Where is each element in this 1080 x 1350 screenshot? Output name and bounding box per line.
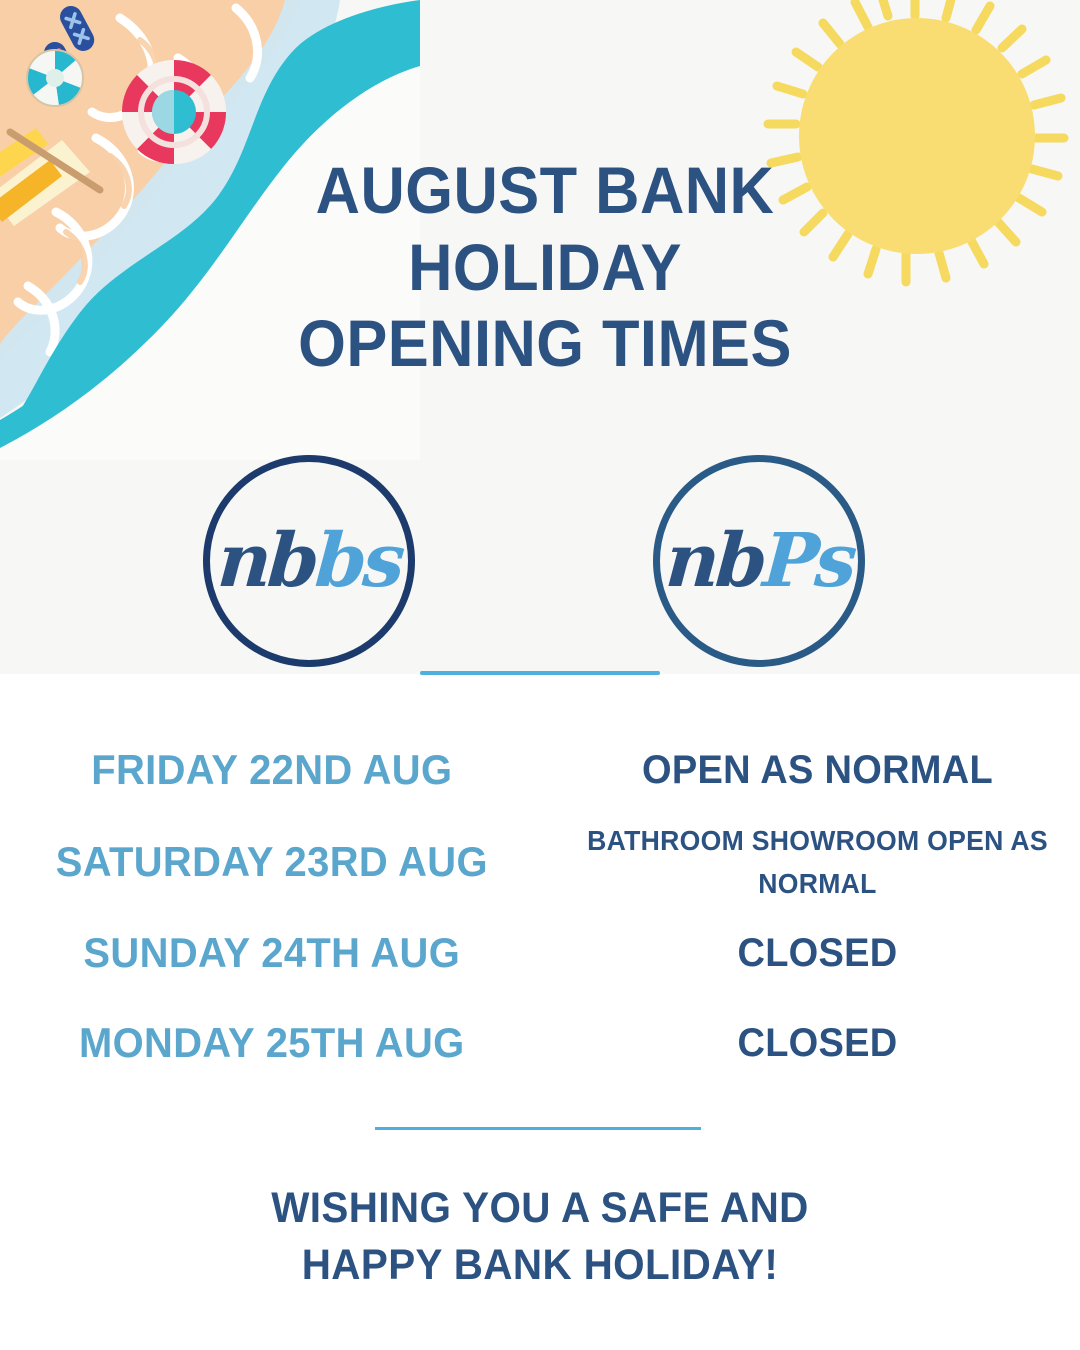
poster-canvas: AUGUST BANK HOLIDAY OPENING TIMES nbbs n… — [0, 0, 1080, 1350]
table-row: MONDAY 25TH AUG CLOSED — [0, 998, 1080, 1088]
schedule-status-2: CLOSED — [568, 931, 1067, 976]
nbbs-logo: nbbs — [203, 455, 415, 667]
life-ring-icon — [122, 60, 226, 164]
title-line-1: AUGUST BANK — [261, 152, 828, 229]
title-line-3: OPENING TIMES — [261, 305, 828, 382]
beach-ball-icon — [27, 50, 83, 106]
title-line-2: HOLIDAY — [261, 229, 828, 306]
divider-above-closing — [375, 1127, 701, 1130]
nbbs-logo-dark-part: nb — [215, 518, 319, 604]
nbps-logo: nbPs — [653, 455, 865, 667]
schedule-day-0: FRIDAY 22ND AUG — [14, 746, 541, 794]
schedule-status-1: BATHROOM SHOWROOM OPEN AS NORMAL — [568, 819, 1067, 906]
table-row: SUNDAY 24TH AUG CLOSED — [0, 908, 1080, 998]
page-title: AUGUST BANK HOLIDAY OPENING TIMES — [240, 152, 850, 382]
schedule-day-2: SUNDAY 24TH AUG — [14, 929, 541, 977]
nbps-logo-dark-part: nb — [663, 518, 767, 604]
nbbs-logo-mark: nbbs — [215, 524, 403, 598]
closing-line-2: HAPPY BANK HOLIDAY! — [32, 1237, 1047, 1294]
schedule-status-3-text: CLOSED — [568, 1021, 1067, 1066]
nbps-logo-mark: nbPs — [663, 524, 855, 598]
schedule-status-1-text: BATHROOM SHOWROOM OPEN AS NORMAL — [568, 819, 1067, 906]
schedule-status-3: CLOSED — [568, 1021, 1067, 1066]
nbbs-logo-light-part: bs — [312, 518, 403, 604]
schedule-day-3: MONDAY 25TH AUG — [14, 1019, 541, 1067]
opening-times-table: FRIDAY 22ND AUG OPEN AS NORMAL SATURDAY … — [0, 724, 1080, 1088]
table-row: FRIDAY 22ND AUG OPEN AS NORMAL — [0, 724, 1080, 816]
nbps-logo-light-part: Ps — [760, 518, 855, 604]
schedule-day-1: SATURDAY 23RD AUG — [14, 838, 541, 886]
logo-row: nbbs nbPs — [0, 455, 1080, 670]
schedule-status-0-text: OPEN AS NORMAL — [568, 748, 1067, 793]
closing-message: WISHING YOU A SAFE AND HAPPY BANK HOLIDA… — [0, 1180, 1080, 1294]
closing-line-1: WISHING YOU A SAFE AND — [32, 1180, 1047, 1237]
table-row: SATURDAY 23RD AUG BATHROOM SHOWROOM OPEN… — [0, 816, 1080, 908]
divider-under-logos — [420, 671, 660, 675]
schedule-status-0: OPEN AS NORMAL — [568, 748, 1067, 793]
schedule-status-2-text: CLOSED — [568, 931, 1067, 976]
